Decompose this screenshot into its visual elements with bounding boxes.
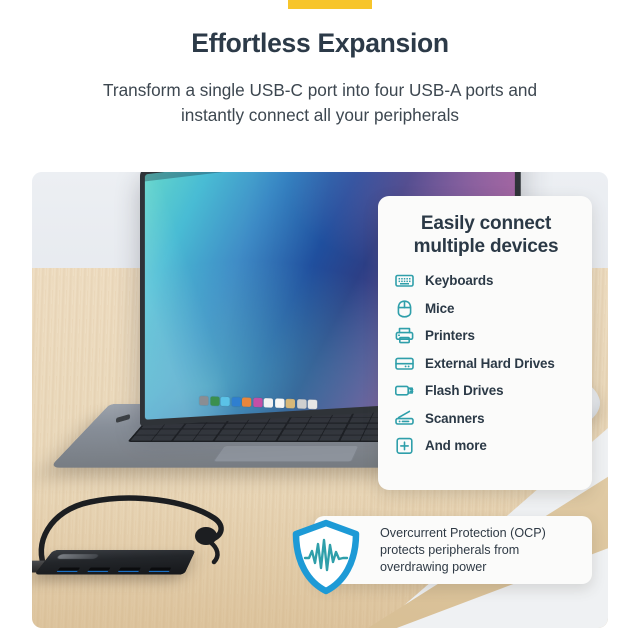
- dock-icon: [308, 399, 318, 409]
- hard-drive-icon: [394, 353, 415, 374]
- scanner-icon: [394, 408, 415, 429]
- device-list-item-label: Scanners: [425, 411, 485, 426]
- usb-a-port: [57, 568, 81, 572]
- dock-icon: [264, 398, 273, 408]
- device-list-item: Flash Drives: [394, 380, 578, 401]
- keyboard-key: [326, 423, 348, 428]
- keyboard-key: [198, 429, 221, 434]
- usb-a-port: [149, 568, 172, 572]
- keyboard-key: [235, 435, 258, 440]
- device-list-item-label: And more: [425, 438, 487, 453]
- plus-icon: [394, 435, 415, 456]
- device-list-item: And more: [394, 435, 578, 456]
- keyboard-key: [343, 429, 365, 434]
- device-list-item: Keyboards: [394, 270, 578, 291]
- dock-icon: [221, 397, 230, 406]
- keyboard-key: [340, 435, 362, 440]
- keyboard-key: [288, 418, 310, 423]
- usb-hub-4-port: [34, 550, 195, 575]
- mouse-icon: [394, 298, 415, 319]
- keyboard-key: [308, 418, 330, 423]
- device-list-item: Scanners: [394, 408, 578, 429]
- dock-icon: [253, 398, 262, 408]
- page-subtitle: Transform a single USB-C port into four …: [70, 78, 570, 128]
- keyboard-key: [298, 435, 320, 440]
- devices-card: Easily connect multiple devices Keyboard…: [378, 196, 592, 490]
- keyboard-key: [329, 418, 350, 423]
- dock-icon: [210, 396, 219, 405]
- keyboard-key: [223, 423, 246, 428]
- keyboard-key: [256, 435, 279, 440]
- device-list-item-label: External Hard Drives: [425, 356, 555, 371]
- usb-a-ports: [57, 568, 172, 572]
- product-marketing-image: Effortless Expansion Transform a single …: [0, 0, 640, 640]
- flash-drive-icon: [394, 380, 415, 401]
- keyboard-key: [260, 429, 282, 434]
- keyboard-key: [194, 435, 217, 440]
- keyboard-key: [349, 418, 370, 423]
- keyboard-key: [346, 423, 367, 428]
- device-list-item: Printers: [394, 325, 578, 346]
- usb-a-port: [118, 568, 141, 572]
- device-list-item-label: Keyboards: [425, 273, 493, 288]
- dock-icon: [297, 399, 307, 409]
- keyboard-key: [152, 435, 176, 440]
- brand-logo: [56, 554, 99, 559]
- keyboard-icon: [394, 270, 415, 291]
- menu-bar: [145, 172, 515, 181]
- page-title: Effortless Expansion: [0, 28, 640, 59]
- keyboard-key: [219, 429, 242, 434]
- keyboard-key: [215, 435, 238, 440]
- dock-icon: [275, 398, 284, 408]
- usb-a-port: [87, 568, 110, 572]
- keyboard-key: [157, 429, 180, 434]
- printer-icon: [394, 325, 415, 346]
- keyboard-key: [277, 435, 299, 440]
- usb-c-cable: [32, 474, 242, 594]
- device-list-item: Mice: [394, 298, 578, 319]
- keyboard-key: [240, 429, 263, 434]
- laptop-trackpad: [212, 446, 359, 462]
- ocp-card-text: Overcurrent Protection (OCP) protects pe…: [380, 525, 580, 576]
- dock-icon: [232, 397, 241, 407]
- device-list-item: External Hard Drives: [394, 353, 578, 374]
- top-accent-bar: [288, 0, 372, 9]
- keyboard-key: [264, 423, 286, 428]
- ocp-card: Overcurrent Protection (OCP) protects pe…: [314, 516, 592, 584]
- shield-waveform-icon: [288, 518, 364, 596]
- devices-card-title: Easily connect multiple devices: [394, 212, 578, 258]
- dock-icon: [200, 396, 209, 405]
- keyboard-key: [319, 435, 341, 440]
- keyboard-key: [285, 423, 307, 428]
- keyboard-key: [322, 429, 344, 434]
- device-list-item-label: Mice: [425, 301, 454, 316]
- devices-list: KeyboardsMicePrintersExternal Hard Drive…: [394, 270, 578, 456]
- keyboard-key: [305, 423, 327, 428]
- keyboard-key: [302, 429, 324, 434]
- device-list-item-label: Printers: [425, 328, 475, 343]
- device-list-item-label: Flash Drives: [425, 383, 503, 398]
- keyboard-key: [281, 429, 303, 434]
- keyboard-key: [244, 423, 266, 428]
- keyboard-key: [203, 423, 226, 428]
- dock-icon: [286, 399, 295, 409]
- dock-icon: [242, 397, 251, 407]
